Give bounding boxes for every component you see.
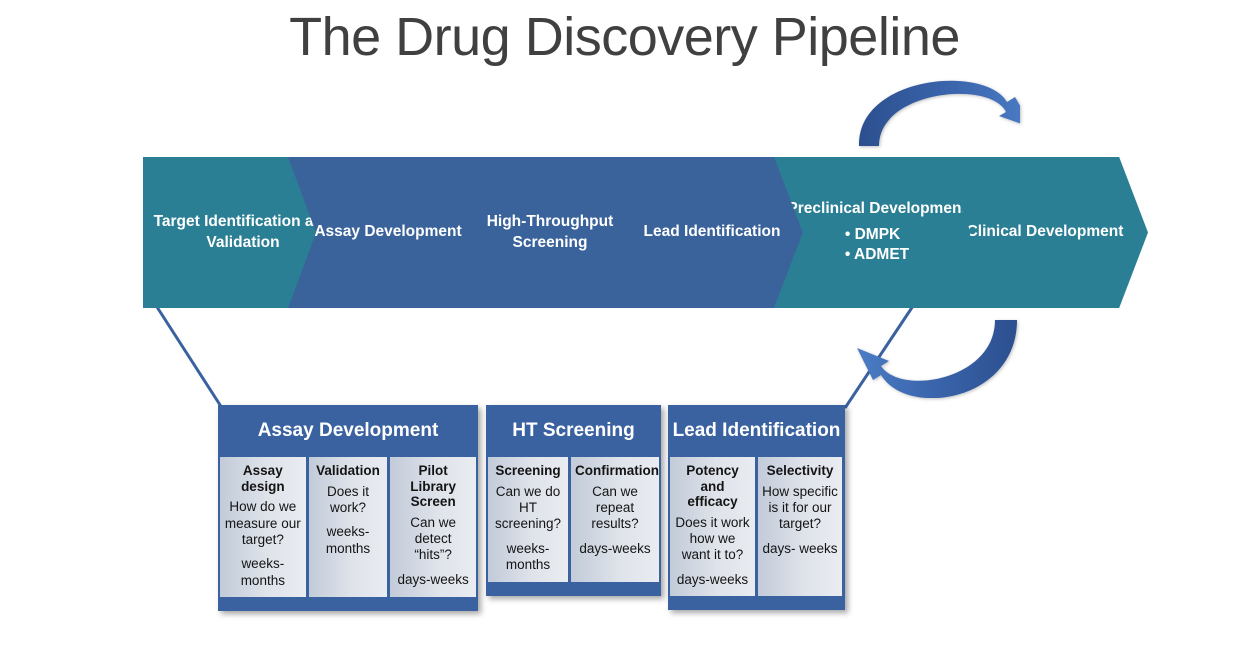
cell-duration: weeks-months <box>492 541 564 574</box>
cell-duration: days-weeks <box>394 572 472 588</box>
cell-title: Assay design <box>224 463 302 494</box>
pipeline-stage-label: Target Identification and Validation <box>154 213 333 251</box>
detail-cell[interactable]: Assay design How do we measure our targe… <box>220 457 306 597</box>
cell-title: Pilot Library Screen <box>394 463 472 510</box>
pipeline-stage-assay-development[interactable]: Assay Development <box>288 157 488 308</box>
cell-question: Does it work how we want it to? <box>674 515 751 564</box>
detail-cell[interactable]: Confirmation Can we repeat results? days… <box>571 457 659 582</box>
detail-box-assay-development[interactable]: Assay Development Assay design How do we… <box>218 405 478 611</box>
pipeline-stage-preclinical-development[interactable]: Preclinical Development • DMPK • ADMET <box>774 157 980 308</box>
detail-box-title: HT Screening <box>486 405 661 457</box>
detail-cell-row: Screening Can we do HT screening? weeks-… <box>486 457 661 582</box>
curved-arrow-right-icon <box>855 78 1020 150</box>
pipeline-chevrons: Target Identification and Validation Ass… <box>143 157 1148 308</box>
detail-cell[interactable]: Validation Does it work? weeks-months <box>309 457 388 597</box>
detail-box-footer <box>486 582 661 596</box>
detail-cell[interactable]: Pilot Library Screen Can we detect “hits… <box>390 457 476 597</box>
bullet-admet: • ADMET <box>845 245 909 266</box>
detail-box-footer <box>218 597 478 611</box>
curved-arrow-left-icon <box>845 318 1020 398</box>
pipeline-stage-clinical-development[interactable]: Clinical Development <box>942 157 1148 308</box>
preclinical-bullets: • DMPK • ADMET <box>845 225 909 266</box>
cell-title: Screening <box>492 463 564 479</box>
cell-question: Can we repeat results? <box>575 484 655 533</box>
page-title: The Drug Discovery Pipeline <box>0 6 1249 68</box>
detail-cell[interactable]: Potency and efficacy Does it work how we… <box>670 457 755 596</box>
detail-box-footer <box>668 596 845 610</box>
cell-duration: days-weeks <box>674 572 751 588</box>
detail-cell-row: Potency and efficacy Does it work how we… <box>668 457 845 596</box>
cell-title: Confirmation <box>575 463 655 479</box>
cell-question: Can we detect “hits”? <box>394 515 472 564</box>
connector-line-left <box>157 307 222 408</box>
cell-duration: weeks-months <box>313 524 384 557</box>
cell-question: How specific is it for our target? <box>762 484 838 533</box>
cell-title: Selectivity <box>762 463 838 479</box>
detail-box-lead-identification[interactable]: Lead Identification Potency and efficacy… <box>668 405 845 610</box>
cell-duration: weeks-months <box>224 556 302 589</box>
cell-question: How do we measure our target? <box>224 499 302 548</box>
detail-box-title: Lead Identification <box>668 405 845 457</box>
cell-duration: days-weeks <box>575 541 655 557</box>
detail-cell-row: Assay design How do we measure our targe… <box>218 457 478 597</box>
pipeline-stage-lead-identification[interactable]: Lead Identification <box>612 157 812 308</box>
detail-box-title: Assay Development <box>218 405 478 457</box>
cell-duration: days- weeks <box>762 541 838 557</box>
pipeline-stage-label: Preclinical Development <box>787 200 966 217</box>
cell-title: Validation <box>313 463 384 479</box>
cell-title: Potency and efficacy <box>674 463 751 510</box>
cell-question: Does it work? <box>313 484 384 517</box>
pipeline-stage-high-throughput-screening[interactable]: High-Throughput Screening <box>450 157 650 308</box>
detail-cell[interactable]: Selectivity How specific is it for our t… <box>758 457 842 596</box>
detail-box-ht-screening[interactable]: HT Screening Screening Can we do HT scre… <box>486 405 661 596</box>
pipeline-stage-label: Assay Development <box>314 223 461 240</box>
pipeline-stage-label: Clinical Development <box>967 223 1124 240</box>
detail-cell[interactable]: Screening Can we do HT screening? weeks-… <box>488 457 568 582</box>
cell-question: Can we do HT screening? <box>492 484 564 533</box>
bullet-dmpk: • DMPK <box>845 225 909 246</box>
pipeline-stage-label: High-Throughput Screening <box>487 213 614 251</box>
pipeline-stage-label: Lead Identification <box>644 223 781 240</box>
